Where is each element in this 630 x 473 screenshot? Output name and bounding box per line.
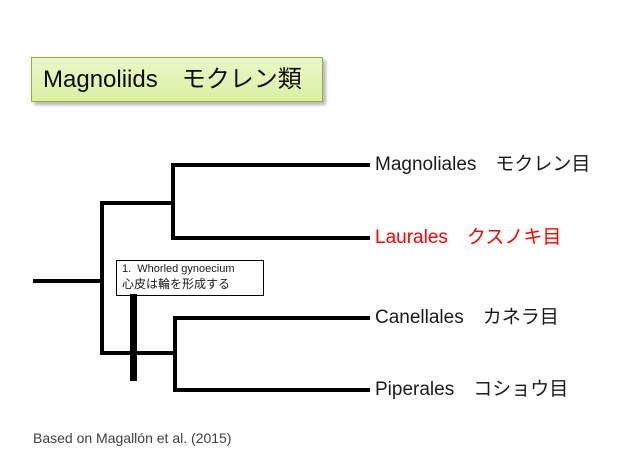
tip-label-piperales: Piperales コショウ目 [375,380,568,399]
tip-label-laurales: Laurales クスノキ目 [375,228,561,247]
tree-spine-magnoliids [100,203,104,355]
tree-branch-upper-clade [100,201,175,205]
character-annotation-box: 1. Whorled gynoecium 心皮は輪を形成する [116,260,264,296]
tree-tip-branch-laurales [171,236,370,240]
character-annotation-line-1: 1. Whorled gynoecium [122,263,258,277]
tree-branch-lower-clade [100,351,177,355]
tip-label-canellales: Canellales カネラ目 [375,308,559,327]
title-banner: Magnoliids モクレン類 [31,57,323,102]
tree-tip-branch-piperales [173,388,370,392]
tree-node-upper-clade [171,163,175,240]
tree-root-stem [33,279,104,283]
tree-tip-branch-canellales [173,316,370,320]
tree-node-lower-clade [173,316,177,392]
tree-tip-branch-magnoliales [171,163,370,167]
character-state-bar [130,294,137,381]
source-attribution: Based on Magallón et al. (2015) [33,431,231,445]
character-annotation-line-2: 心皮は輪を形成する [122,277,258,292]
slide-canvas: Magnoliids モクレン類 Magnoliales モクレン目 Laura… [0,0,630,473]
page-title: Magnoliids モクレン類 [43,68,302,92]
tip-label-magnoliales: Magnoliales モクレン目 [375,155,590,174]
